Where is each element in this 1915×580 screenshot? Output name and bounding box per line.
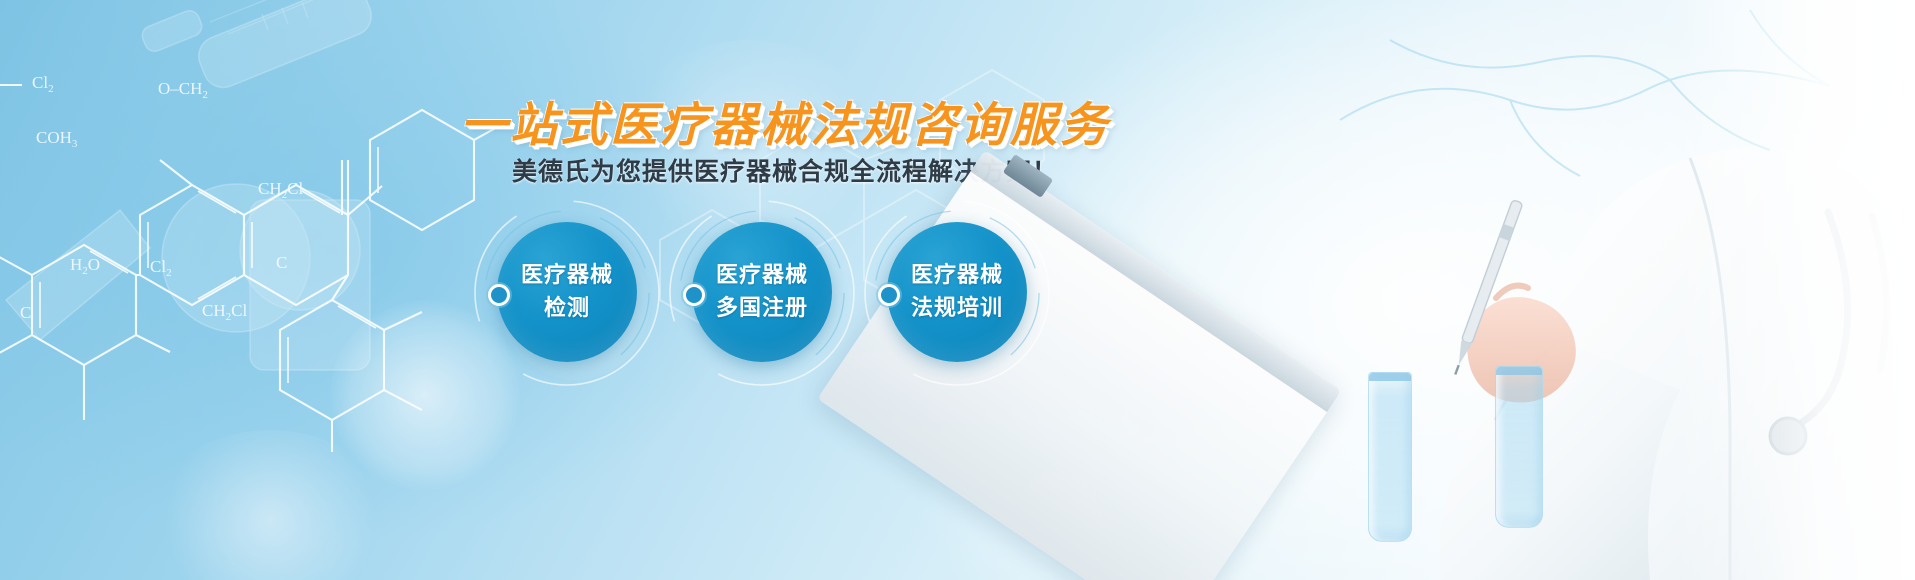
test-tube-icon: [1495, 366, 1543, 528]
chemistry-label: Cl2: [150, 257, 172, 279]
service-node-testing[interactable]: 医疗器械 检测: [497, 222, 637, 362]
page-title: 一站式医疗器械法规咨询服务: [0, 86, 1570, 155]
pen-icon: [1430, 175, 1550, 395]
service-label-line2: 多国注册: [716, 293, 808, 324]
connector-dot-icon: [488, 284, 510, 306]
connector-dot-icon: [683, 284, 705, 306]
service-circle[interactable]: 医疗器械 检测: [497, 222, 637, 362]
connector-dot-icon: [878, 284, 900, 306]
service-label-line1: 医疗器械: [911, 260, 1003, 291]
promotional-banner: Cl2COH3O–CH2H2OCl2CH2ClCH2ClClCC 一站式医疗器械…: [0, 0, 1915, 580]
service-circle[interactable]: 医疗器械 法规培训: [887, 222, 1027, 362]
test-tube-cap-icon: [1496, 367, 1542, 375]
service-label-line1: 医疗器械: [521, 260, 613, 291]
service-label-line2: 法规培训: [911, 293, 1003, 324]
page-subtitle: 美德氏为您提供医疗器械合规全流程解决方案！: [0, 152, 1570, 188]
clipboard-icon: [817, 150, 1341, 580]
test-tube-icon: [1368, 372, 1412, 542]
service-node-training[interactable]: 医疗器械 法规培训: [887, 222, 1027, 362]
service-circle[interactable]: 医疗器械 多国注册: [692, 222, 832, 362]
test-tube-cap-icon: [1369, 373, 1411, 381]
right-edge-fade: [1675, 0, 1915, 580]
service-label-line2: 检测: [544, 293, 590, 324]
chemistry-label: C: [20, 303, 31, 322]
chemistry-label: H2O: [70, 255, 100, 277]
service-circle-group: 医疗器械 检测 医疗器械 多国注册 医疗器械 法规培训: [497, 222, 1027, 362]
service-label-line1: 医疗器械: [716, 260, 808, 291]
service-node-registration[interactable]: 医疗器械 多国注册: [692, 222, 832, 362]
chemistry-label: CH2Cl: [202, 301, 247, 323]
chemistry-label: C: [276, 253, 287, 272]
